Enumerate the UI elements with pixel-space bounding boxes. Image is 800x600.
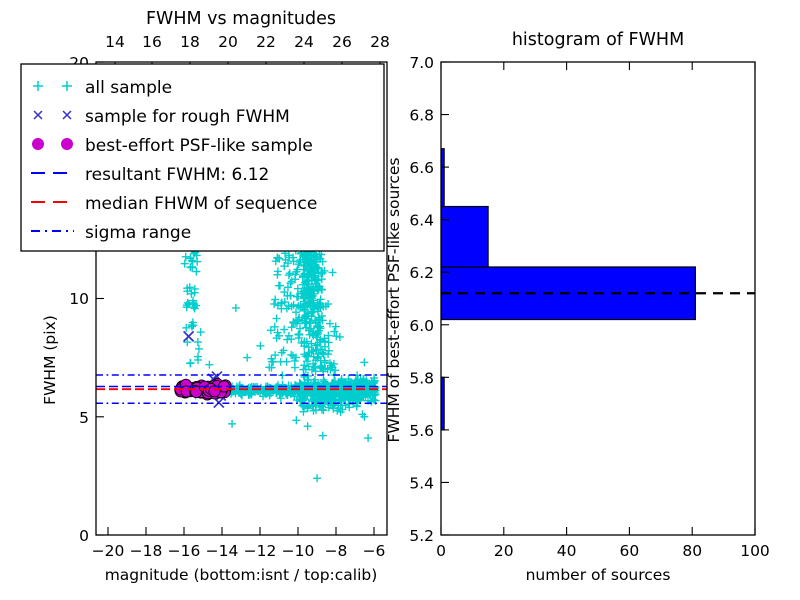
legend-label: sigma range	[85, 223, 191, 243]
left-panel-ylabel: FWHM (pix)	[41, 315, 59, 405]
histogram-bar	[441, 207, 488, 267]
x-tick-label: 40	[557, 542, 577, 560]
top-tick-label: 28	[370, 33, 390, 51]
y-tick-label: 5.8	[409, 369, 434, 387]
x-tick-label: −6	[363, 542, 386, 560]
y-tick-label: 5.6	[409, 422, 434, 440]
left-panel-title: FWHM vs magnitudes	[146, 9, 336, 29]
y-tick-label: 5.4	[409, 474, 434, 492]
top-tick-label: 20	[218, 33, 238, 51]
legend: all sample sample for rough FWHM	[21, 64, 384, 251]
legend-label: median FHWM of sequence	[85, 194, 317, 214]
y-tick-label: 10	[69, 290, 89, 308]
matplotlib-figure: FWHM vs magnitudes 14 16 18 20 22 24 26 …	[0, 0, 800, 600]
legend-label: all sample	[85, 78, 172, 98]
y-tick-label: 5.2	[409, 527, 434, 545]
y-tick-label: 6.2	[409, 264, 434, 282]
legend-label: resultant FWHM: 6.12	[85, 165, 269, 185]
right-panel-ylabel: FWHM of best-effort PSF-like sources	[385, 157, 403, 442]
y-tick-label: 6.4	[409, 212, 434, 230]
x-tick-label: −16	[168, 542, 201, 560]
y-tick-label: 6.8	[409, 107, 434, 125]
x-tick-label: −20	[92, 542, 125, 560]
x-tick-label: −12	[244, 542, 277, 560]
x-tick-label: 0	[436, 542, 446, 560]
y-tick-label: 7.0	[409, 54, 434, 72]
legend-label: sample for rough FWHM	[85, 107, 290, 127]
x-tick-label: −18	[130, 542, 163, 560]
x-tick-label: −8	[325, 542, 348, 560]
y-tick-label: 6.6	[409, 159, 434, 177]
y-tick-label: 5	[79, 409, 89, 427]
legend-box	[21, 64, 384, 251]
x-tick-label: 80	[682, 542, 702, 560]
y-tick-label: 6.0	[409, 317, 434, 335]
x-tick-label: 20	[494, 542, 514, 560]
right-panel-xlabel: number of sources	[526, 566, 671, 584]
x-tick-label: 60	[620, 542, 640, 560]
left-panel-xlabel: magnitude (bottom:isnt / top:calib)	[105, 566, 378, 584]
figure-canvas: FWHM vs magnitudes 14 16 18 20 22 24 26 …	[0, 0, 800, 600]
top-tick-label: 16	[142, 33, 162, 51]
x-tick-label: −10	[282, 542, 315, 560]
x-tick-label: −14	[206, 542, 239, 560]
top-tick-label: 26	[332, 33, 352, 51]
right-panel-title: histogram of FWHM	[512, 30, 684, 50]
x-tick-label: 100	[740, 542, 770, 560]
legend-label: best-effort PSF-like sample	[85, 136, 313, 156]
y-tick-label: 0	[79, 527, 89, 545]
top-tick-label: 18	[180, 33, 200, 51]
top-tick-label: 14	[105, 33, 125, 51]
top-tick-label: 24	[294, 33, 314, 51]
top-tick-label: 22	[256, 33, 276, 51]
